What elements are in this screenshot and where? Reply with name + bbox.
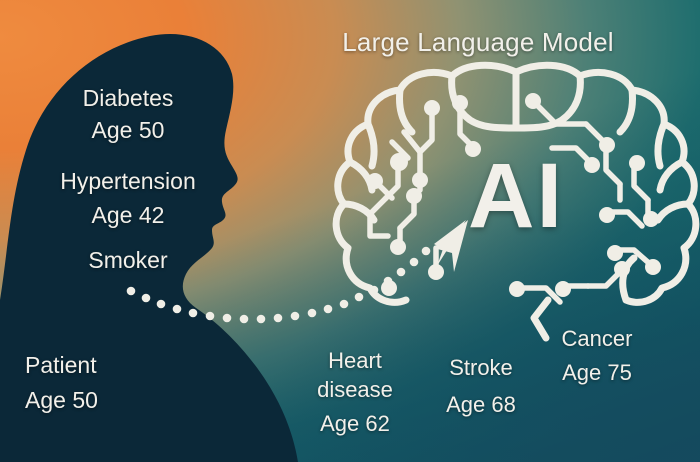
- prediction-cancer-name: Cancer: [562, 326, 633, 352]
- prediction-cancer-age: Age 75: [562, 360, 632, 386]
- condition-hypertension: Hypertension: [60, 168, 196, 195]
- prediction-heart-disease-name-line2: disease: [317, 377, 393, 403]
- brain-sulcus-left-2: [400, 90, 413, 132]
- brain-sulcus-right-5: [658, 204, 688, 220]
- page-title: Large Language Model: [342, 27, 613, 58]
- patient-label: Patient: [25, 352, 97, 379]
- brain-stem: [534, 300, 548, 338]
- condition-diabetes-age: Age 50: [92, 117, 165, 144]
- brain-circuit-nodes-left: [367, 95, 481, 296]
- ai-label: AI: [468, 142, 564, 251]
- condition-hypertension-age: Age 42: [92, 202, 165, 229]
- infographic-canvas: AI Large Language Model Diabetes Age 50 …: [0, 0, 700, 462]
- patient-age: Age 50: [25, 387, 98, 414]
- prediction-stroke-name: Stroke: [449, 355, 513, 381]
- brain-sulcus-right-2: [620, 90, 633, 132]
- brain-sulcus-left-3: [368, 124, 374, 166]
- prediction-heart-disease-name-line1: Heart: [328, 348, 382, 374]
- brain-sulcus-right-3: [658, 124, 664, 166]
- condition-diabetes: Diabetes: [83, 85, 174, 112]
- condition-smoker: Smoker: [88, 247, 167, 274]
- prediction-stroke-age: Age 68: [446, 392, 516, 418]
- prediction-heart-disease-age: Age 62: [320, 411, 390, 437]
